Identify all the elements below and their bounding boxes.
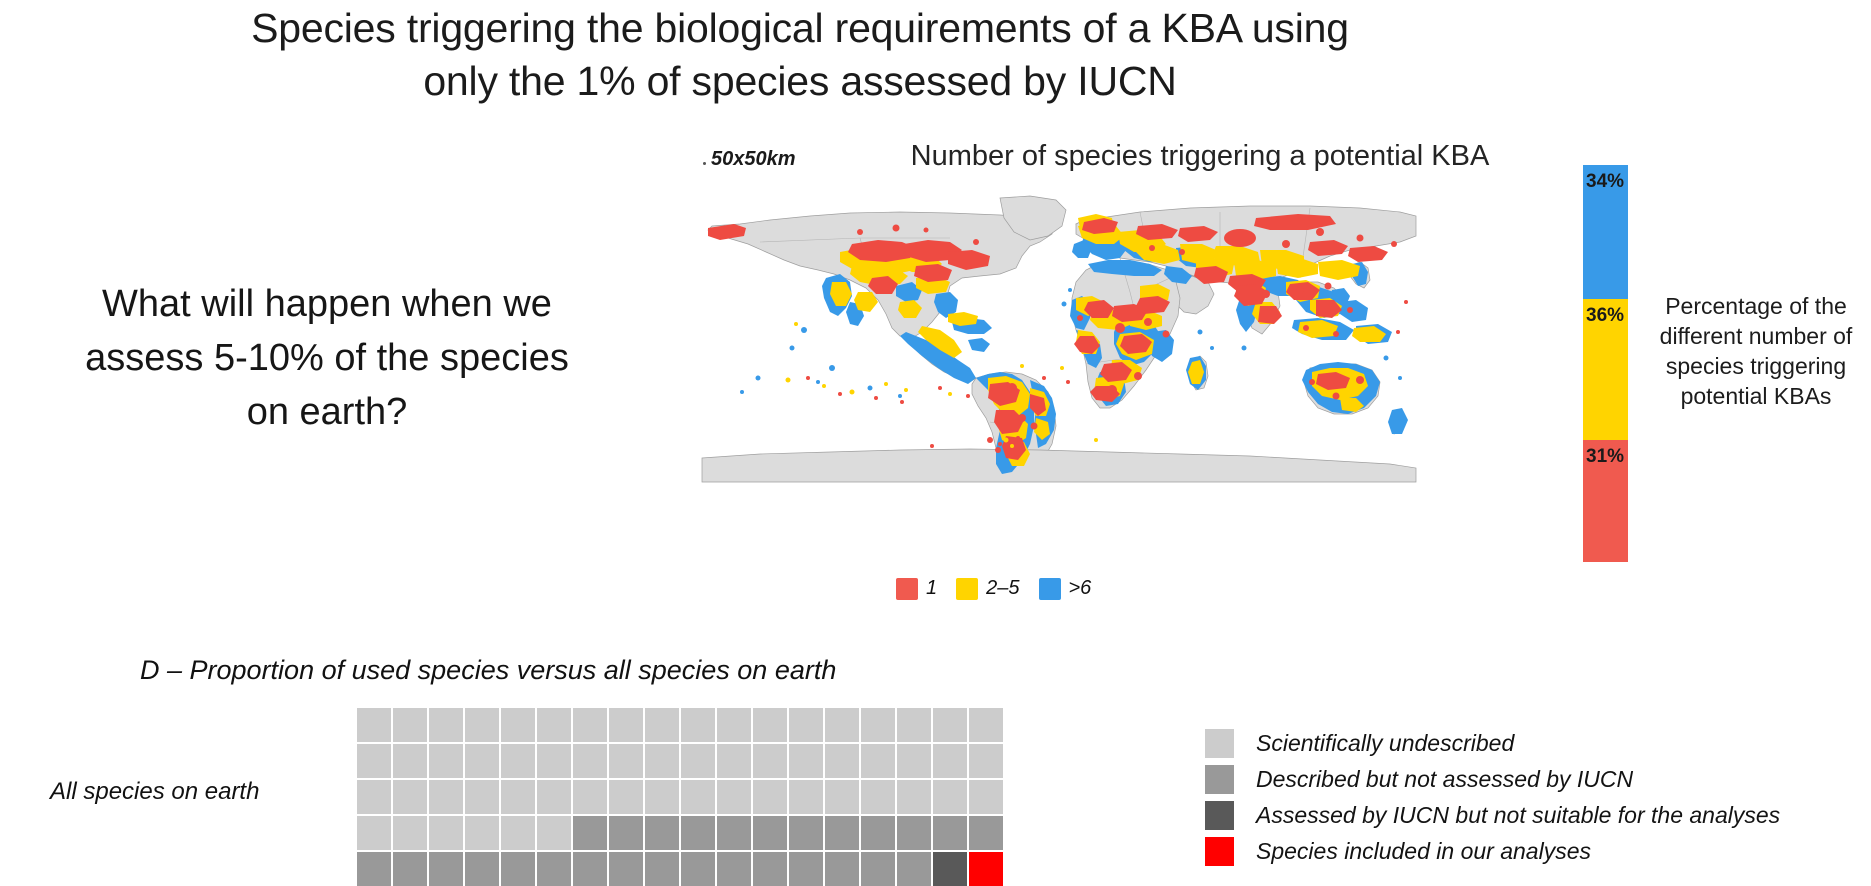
percentage-bar-caption: Percentage of the different number of sp… xyxy=(1648,292,1864,412)
waffle-cell xyxy=(969,852,1003,886)
waffle-cell xyxy=(789,780,823,814)
waffle-cell xyxy=(429,708,463,742)
waffle-cell xyxy=(573,852,607,886)
waffle-cell xyxy=(717,708,751,742)
waffle-cell xyxy=(393,708,427,742)
waffle-cell xyxy=(501,780,535,814)
legend-label-1: 1 xyxy=(926,577,937,600)
waffle-cell xyxy=(825,780,859,814)
waffle-cell xyxy=(645,708,679,742)
waffle-legend-swatch-assessed xyxy=(1205,801,1234,830)
waffle-cell xyxy=(825,816,859,850)
waffle-legend-swatch-described xyxy=(1205,765,1234,794)
waffle-row-label: All species on earth xyxy=(50,778,259,806)
waffle-cell xyxy=(537,852,571,886)
waffle-legend-swatch-included xyxy=(1205,837,1234,866)
waffle-cell xyxy=(969,708,1003,742)
waffle-cell xyxy=(861,852,895,886)
waffle-cell xyxy=(465,744,499,778)
waffle-cell xyxy=(645,816,679,850)
waffle-cell xyxy=(465,852,499,886)
legend-swatch-gt6 xyxy=(1039,578,1061,600)
pct-segment-2-5: 36% xyxy=(1583,299,1628,441)
waffle-cell xyxy=(717,816,751,850)
question-text: What will happen when we assess 5-10% of… xyxy=(12,278,642,440)
waffle-cell xyxy=(861,744,895,778)
waffle-cell xyxy=(537,780,571,814)
waffle-cell xyxy=(897,816,931,850)
waffle-cell xyxy=(717,744,751,778)
question-line-3: on earth? xyxy=(12,386,642,440)
waffle-cell xyxy=(717,780,751,814)
waffle-legend-label-included: Species included in our analyses xyxy=(1256,838,1591,865)
waffle-cell xyxy=(537,708,571,742)
waffle-legend-label-assessed: Assessed by IUCN but not suitable for th… xyxy=(1256,802,1780,829)
waffle-cell xyxy=(393,744,427,778)
waffle-cell xyxy=(681,744,715,778)
question-line-2: assess 5-10% of the species xyxy=(12,332,642,386)
waffle-cell xyxy=(753,852,787,886)
legend-label-gt6: >6 xyxy=(1069,577,1092,600)
waffle-cell xyxy=(933,744,967,778)
waffle-cell xyxy=(393,852,427,886)
waffle-cell xyxy=(897,852,931,886)
waffle-cell xyxy=(501,708,535,742)
waffle-grid xyxy=(357,708,1003,886)
waffle-legend-swatch-undescribed xyxy=(1205,729,1234,758)
waffle-cell xyxy=(825,708,859,742)
waffle-cell xyxy=(501,744,535,778)
waffle-cell xyxy=(609,780,643,814)
waffle-cell xyxy=(969,816,1003,850)
waffle-cell xyxy=(537,744,571,778)
waffle-cell xyxy=(789,708,823,742)
waffle-cell xyxy=(573,708,607,742)
waffle-legend-label-described: Described but not assessed by IUCN xyxy=(1256,766,1633,793)
waffle-cell xyxy=(465,780,499,814)
waffle-legend-item-included: Species included in our analyses xyxy=(1205,838,1780,865)
waffle-cell xyxy=(357,708,391,742)
scale-marker-dot xyxy=(703,162,706,165)
waffle-chart-title: D – Proportion of used species versus al… xyxy=(140,655,836,686)
waffle-cell xyxy=(393,780,427,814)
waffle-cell xyxy=(357,852,391,886)
waffle-legend-item-assessed: Assessed by IUCN but not suitable for th… xyxy=(1205,802,1780,829)
waffle-cell xyxy=(753,780,787,814)
waffle-cell xyxy=(681,852,715,886)
waffle-cell xyxy=(429,780,463,814)
waffle-cell xyxy=(825,744,859,778)
waffle-cell xyxy=(573,744,607,778)
waffle-cell xyxy=(861,780,895,814)
waffle-cell xyxy=(501,852,535,886)
waffle-cell xyxy=(681,816,715,850)
legend-label-2-5: 2–5 xyxy=(986,577,1019,600)
waffle-cell xyxy=(609,744,643,778)
waffle-legend: Scientifically undescribed Described but… xyxy=(1205,730,1780,865)
map-heading: Number of species triggering a potential… xyxy=(830,140,1570,173)
map-scale-label: 50x50km xyxy=(711,148,796,171)
page-title-line-2: only the 1% of species assessed by IUCN xyxy=(250,55,1350,108)
waffle-cell xyxy=(537,816,571,850)
waffle-cell xyxy=(789,816,823,850)
waffle-cell xyxy=(861,708,895,742)
percentage-stacked-bar: 34% 36% 31% xyxy=(1583,165,1628,562)
waffle-legend-item-undescribed: Scientifically undescribed xyxy=(1205,730,1780,757)
waffle-cell xyxy=(429,744,463,778)
waffle-cell xyxy=(465,816,499,850)
waffle-cell xyxy=(933,816,967,850)
waffle-cell xyxy=(897,744,931,778)
waffle-cell xyxy=(429,852,463,886)
waffle-cell xyxy=(357,744,391,778)
legend-swatch-1 xyxy=(896,578,918,600)
waffle-cell xyxy=(501,816,535,850)
waffle-cell xyxy=(933,708,967,742)
waffle-cell xyxy=(969,744,1003,778)
waffle-legend-item-described: Described but not assessed by IUCN xyxy=(1205,766,1780,793)
waffle-cell xyxy=(897,708,931,742)
waffle-cell xyxy=(609,708,643,742)
map-legend: 1 2–5 >6 xyxy=(896,577,1103,600)
waffle-cell xyxy=(933,780,967,814)
waffle-cell xyxy=(825,852,859,886)
waffle-cell xyxy=(717,852,751,886)
waffle-cell xyxy=(969,780,1003,814)
waffle-cell xyxy=(753,744,787,778)
waffle-cell xyxy=(789,744,823,778)
waffle-cell xyxy=(645,780,679,814)
waffle-cell xyxy=(753,816,787,850)
waffle-cell xyxy=(789,852,823,886)
waffle-cell xyxy=(573,816,607,850)
pct-segment-1: 31% xyxy=(1583,440,1628,562)
legend-swatch-2-5 xyxy=(956,578,978,600)
waffle-cell xyxy=(645,744,679,778)
waffle-cell xyxy=(573,780,607,814)
waffle-cell xyxy=(681,780,715,814)
waffle-cell xyxy=(609,816,643,850)
pct-label-2-5: 36% xyxy=(1586,305,1624,327)
pct-label-1: 31% xyxy=(1586,446,1624,468)
question-line-1: What will happen when we xyxy=(12,278,642,332)
page-title: Species triggering the biological requir… xyxy=(250,2,1350,109)
waffle-cell xyxy=(681,708,715,742)
waffle-cell xyxy=(357,780,391,814)
map-panel: 50x50km Number of species triggering a p… xyxy=(700,140,1610,600)
pct-label-gt6: 34% xyxy=(1586,171,1624,193)
waffle-cell xyxy=(861,816,895,850)
world-map xyxy=(700,182,1418,487)
waffle-cell xyxy=(357,816,391,850)
waffle-cell xyxy=(429,816,463,850)
waffle-cell xyxy=(465,708,499,742)
waffle-cell xyxy=(933,852,967,886)
waffle-cell xyxy=(393,816,427,850)
waffle-cell xyxy=(753,708,787,742)
page-title-line-1: Species triggering the biological requir… xyxy=(250,2,1350,55)
waffle-legend-label-undescribed: Scientifically undescribed xyxy=(1256,730,1514,757)
waffle-cell xyxy=(609,852,643,886)
pct-segment-gt6: 34% xyxy=(1583,165,1628,299)
waffle-cell xyxy=(645,852,679,886)
waffle-cell xyxy=(897,780,931,814)
